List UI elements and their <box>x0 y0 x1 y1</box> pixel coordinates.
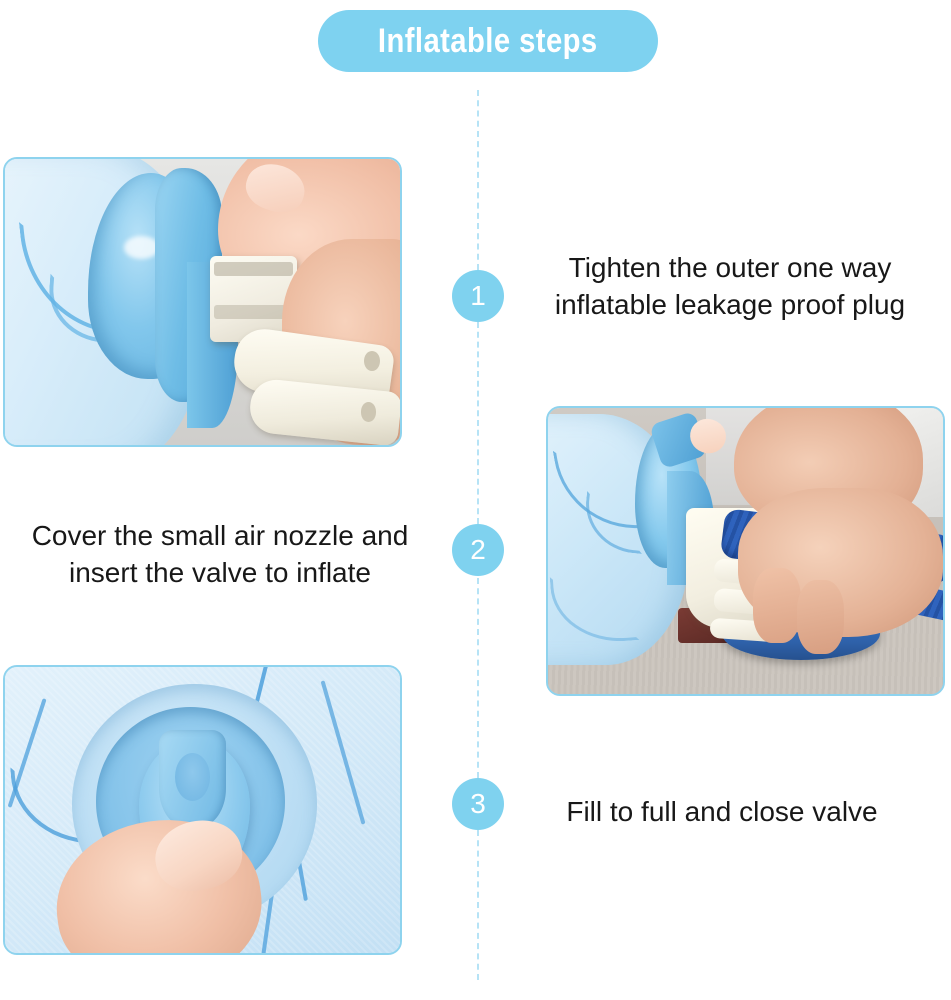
step-connector-line-1 <box>477 90 479 270</box>
photo1-valve-highlight <box>124 236 160 259</box>
page-title: Inflatable steps <box>378 22 598 61</box>
step-number-badge-1: 1 <box>452 270 504 322</box>
step-number-3: 3 <box>470 788 486 820</box>
photo2-finger-2 <box>797 580 844 654</box>
step-photo-2 <box>546 406 945 696</box>
step-photo-3 <box>3 665 402 955</box>
step-connector-line-2 <box>477 322 479 524</box>
step-number-badge-2: 2 <box>452 524 504 576</box>
step-caption-2: Cover the small air nozzle and insert th… <box>10 518 430 592</box>
step-number-1: 1 <box>470 280 486 312</box>
step-photo-1-scene <box>5 159 400 445</box>
step-number-2: 2 <box>470 534 486 566</box>
photo1-plug-rib-1 <box>214 262 293 276</box>
step-caption-1: Tighten the outer one way inflatable lea… <box>530 250 930 324</box>
step-connector-line-4 <box>477 830 479 980</box>
step-photo-2-scene <box>548 408 943 694</box>
step-connector-line-3 <box>477 578 479 778</box>
photo1-nozzle-hole-1 <box>364 351 380 371</box>
page-title-badge: Inflatable steps <box>318 10 658 72</box>
photo2-finger-1 <box>753 568 800 642</box>
step-photo-3-scene <box>5 667 400 953</box>
step-caption-3: Fill to full and close valve <box>522 794 922 831</box>
step-photo-1 <box>3 157 402 447</box>
step-number-badge-3: 3 <box>452 778 504 830</box>
